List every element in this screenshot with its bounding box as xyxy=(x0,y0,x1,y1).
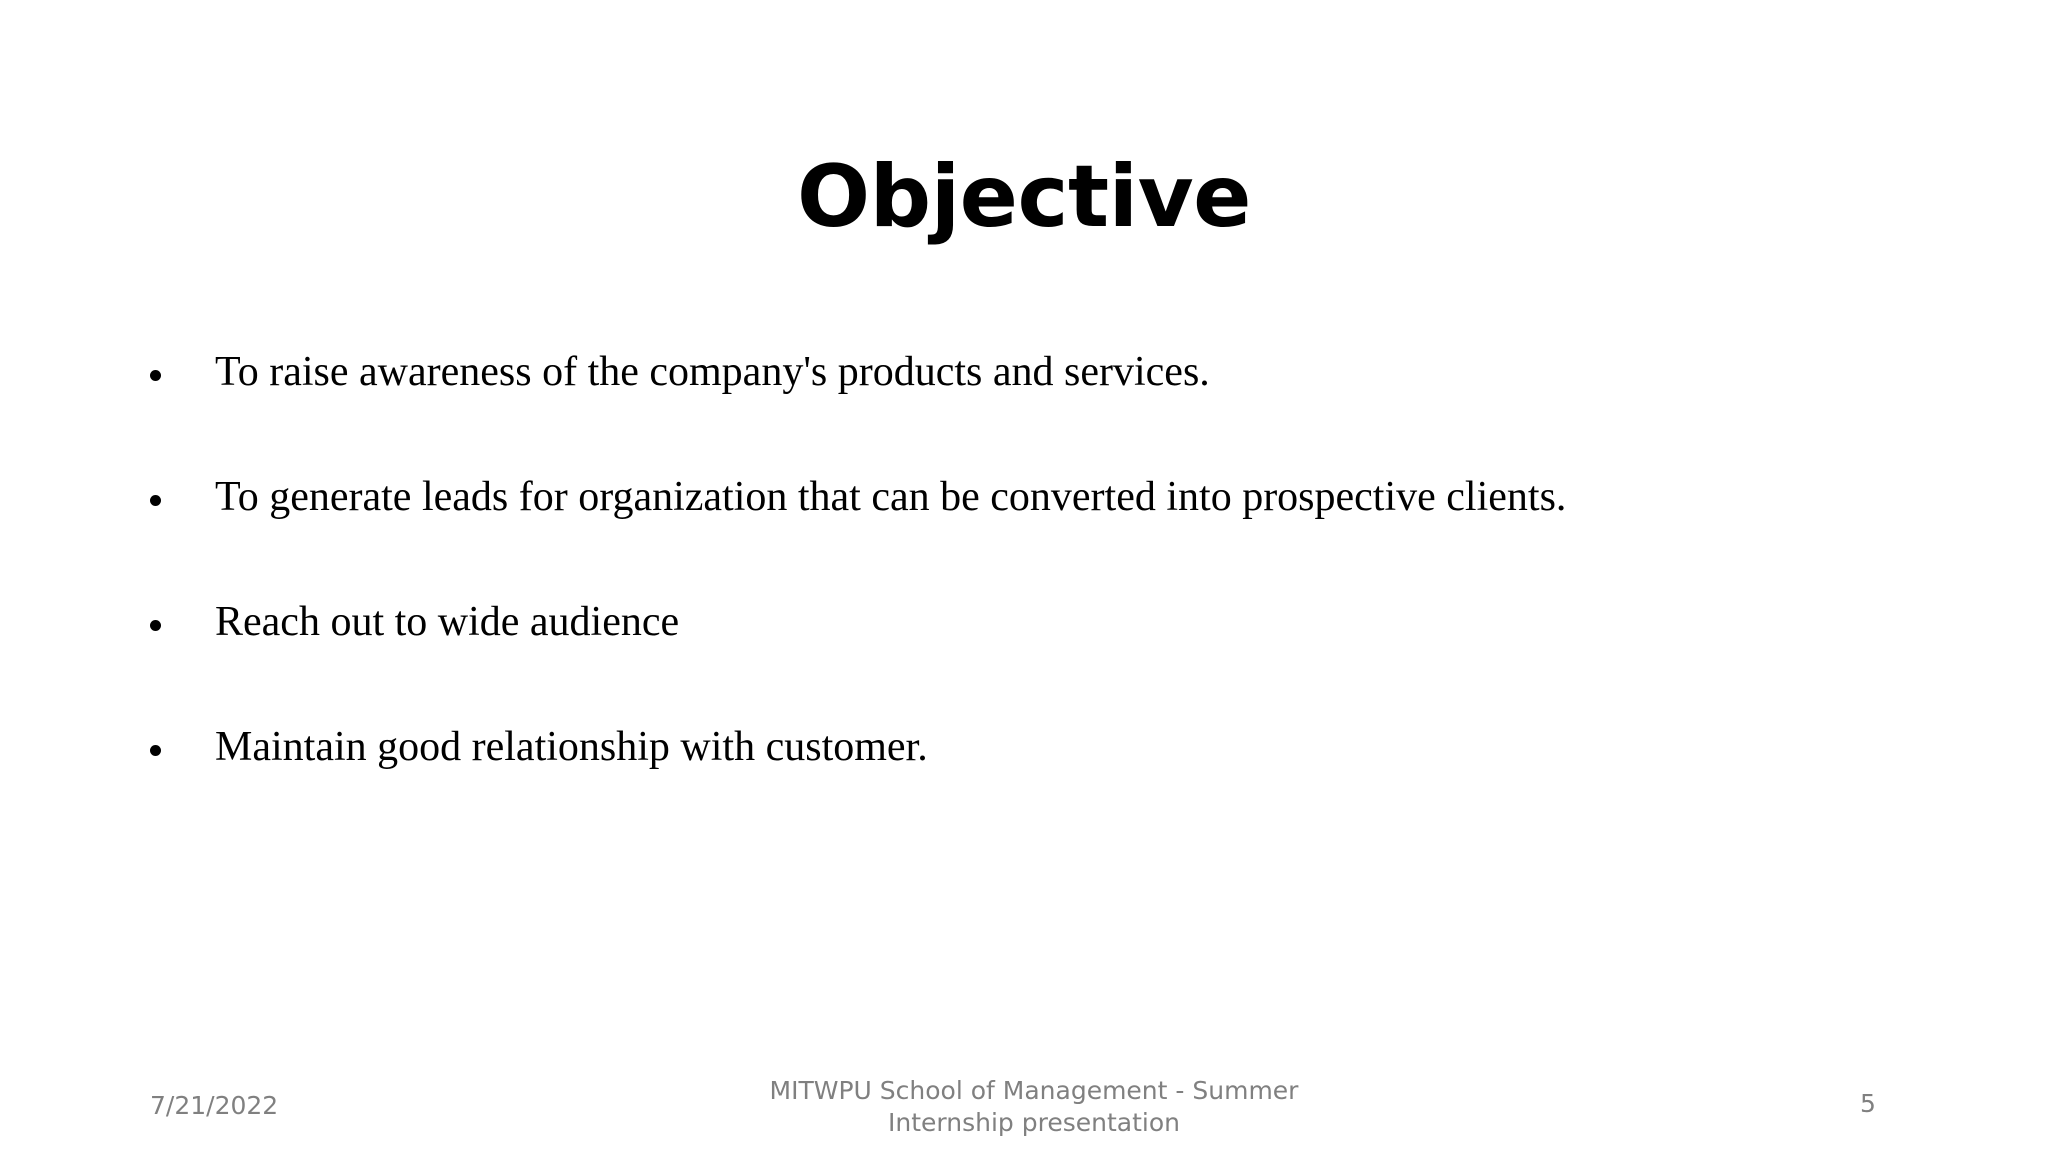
list-item-label: Maintain good relationship with customer… xyxy=(215,721,1940,773)
list-item: To generate leads for organization that … xyxy=(140,471,1940,596)
bullet-dot-icon xyxy=(150,620,161,631)
bullet-dot-icon xyxy=(150,495,161,506)
bullet-dot-icon xyxy=(150,370,161,381)
footer-presentation-title: MITWPU School of Management - Summer Int… xyxy=(724,1075,1344,1139)
page-title: Objective xyxy=(0,154,2048,240)
list-item-label: To raise awareness of the company's prod… xyxy=(215,346,1940,398)
objective-bullet-list: To raise awareness of the company's prod… xyxy=(140,346,1940,846)
footer-page-number: 5 xyxy=(1838,1088,1898,1120)
list-item: Reach out to wide audience xyxy=(140,596,1940,721)
presentation-slide: Objective To raise awareness of the comp… xyxy=(0,0,2048,1152)
list-item-label: Reach out to wide audience xyxy=(215,596,1940,648)
list-item-label: To generate leads for organization that … xyxy=(215,471,1940,523)
list-item: Maintain good relationship with customer… xyxy=(140,721,1940,846)
footer-date: 7/21/2022 xyxy=(150,1090,278,1122)
bullet-dot-icon xyxy=(150,745,161,756)
list-item: To raise awareness of the company's prod… xyxy=(140,346,1940,471)
